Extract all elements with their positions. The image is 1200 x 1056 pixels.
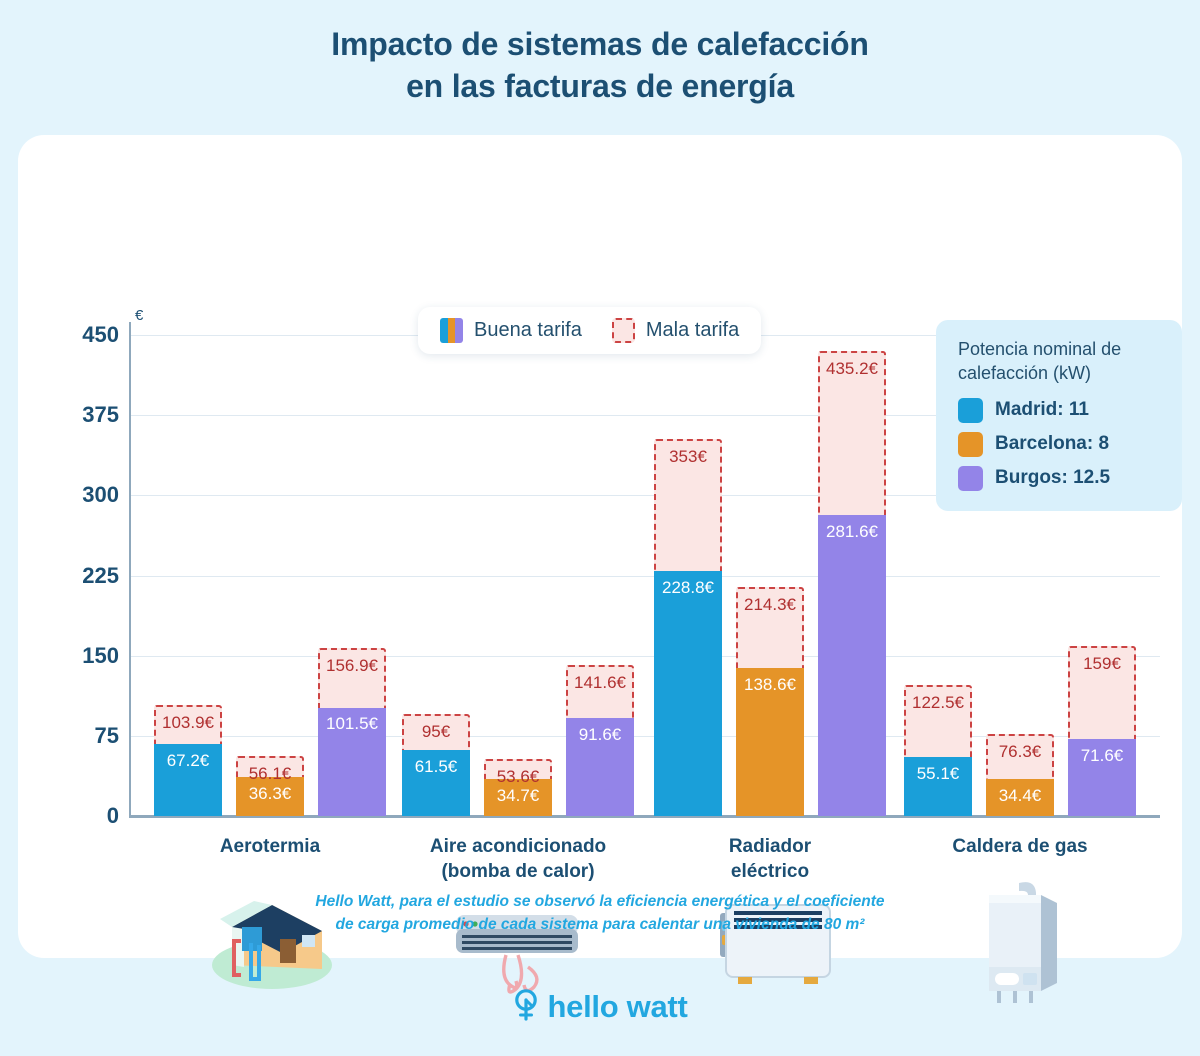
power-legend-item-burgos[interactable]: Burgos: 12.5 [958, 466, 1162, 491]
title-line-2: en las facturas de energía [0, 66, 1200, 108]
color-swatch-icon [958, 398, 983, 423]
y-axis-tick-label: 150 [59, 643, 119, 669]
power-legend-label: Barcelona: 8 [995, 433, 1109, 455]
bad-tariff-value-label: 76.3€ [986, 742, 1054, 762]
bad-tariff-value-label: 353€ [654, 447, 722, 467]
y-axis-line [129, 322, 131, 817]
y-axis-tick-label: 300 [59, 482, 119, 508]
legend-item-good-tariff[interactable]: Buena tarifa [440, 318, 582, 343]
power-legend-title: Potencia nominal de calefacción (kW) [958, 338, 1162, 386]
power-legend-label: Burgos: 12.5 [995, 467, 1110, 489]
bar-barcelona-3[interactable]: 76.3€34.4€ [986, 734, 1054, 816]
bad-tariff-value-label: 53.6€ [484, 767, 552, 787]
bad-tariff-value-label: 95€ [402, 722, 470, 742]
category-label-line: Aerotermia [140, 835, 400, 860]
bad-tariff-value-label: 141.6€ [566, 673, 634, 693]
gridline [131, 656, 1160, 657]
tariff-legend: Buena tarifa Mala tarifa [418, 307, 761, 354]
good-tariff-value-label: 34.4€ [986, 786, 1054, 806]
bar-madrid-0[interactable]: 103.9€67.2€ [154, 705, 222, 816]
bad-tariff-value-label: 214.3€ [736, 595, 804, 615]
category-label-line: Caldera de gas [890, 835, 1150, 860]
good-tariff-swatch-icon [440, 318, 463, 343]
power-legend-panel: Potencia nominal de calefacción (kW) Mad… [936, 320, 1182, 511]
gridline [131, 576, 1160, 577]
good-tariff-value-label: 34.7€ [484, 786, 552, 806]
y-axis-tick-label: 450 [59, 322, 119, 348]
category-label-3: Caldera de gas [890, 835, 1150, 860]
category-label-line: (bomba de calor) [388, 860, 648, 885]
footnote-line-2: de carga promedio de cada sistema para c… [18, 913, 1182, 936]
bad-tariff-value-label: 103.9€ [154, 713, 222, 733]
good-tariff-value-label: 138.6€ [736, 675, 804, 695]
category-label-2: Radiadoreléctrico [640, 835, 900, 884]
brand-footer: hello watt [0, 988, 1200, 1026]
category-label-0: Aerotermia [140, 835, 400, 860]
power-legend-items: Madrid: 11Barcelona: 8Burgos: 12.5 [958, 398, 1162, 491]
bad-tariff-value-label: 159€ [1068, 654, 1136, 674]
footnote-line-1: Hello Watt, para el estudio se observó l… [18, 890, 1182, 913]
bar-madrid-3[interactable]: 122.5€55.1€ [904, 685, 972, 816]
infographic-page: Impacto de sistemas de calefacción en la… [0, 0, 1200, 1056]
good-tariff-value-label: 91.6€ [566, 725, 634, 745]
y-axis-tick-label: 225 [59, 563, 119, 589]
brand-name: hello watt [548, 989, 688, 1025]
good-tariff-bar[interactable] [654, 571, 722, 816]
y-axis-tick-label: 375 [59, 402, 119, 428]
lightbulb-icon [513, 988, 539, 1026]
power-legend-item-barcelona[interactable]: Barcelona: 8 [958, 432, 1162, 457]
legend-label-good-tariff: Buena tarifa [474, 319, 582, 342]
bar-madrid-1[interactable]: 95€61.5€ [402, 714, 470, 816]
power-legend-item-madrid[interactable]: Madrid: 11 [958, 398, 1162, 423]
bar-barcelona-1[interactable]: 53.6€34.7€ [484, 759, 552, 816]
bad-tariff-value-label: 156.9€ [318, 656, 386, 676]
title-line-1: Impacto de sistemas de calefacción [0, 24, 1200, 66]
bar-burgos-1[interactable]: 141.6€91.6€ [566, 665, 634, 816]
good-tariff-value-label: 71.6€ [1068, 746, 1136, 766]
color-swatch-icon [958, 432, 983, 457]
legend-item-bad-tariff[interactable]: Mala tarifa [612, 318, 739, 343]
category-label-line: Radiador [640, 835, 900, 860]
good-tariff-value-label: 101.5€ [318, 714, 386, 734]
color-swatch-icon [958, 466, 983, 491]
bad-tariff-value-label: 122.5€ [904, 693, 972, 713]
good-tariff-value-label: 281.6€ [818, 522, 886, 542]
bar-madrid-2[interactable]: 353€228.8€ [654, 439, 722, 816]
bad-tariff-value-label: 435.2€ [818, 359, 886, 379]
power-legend-label: Madrid: 11 [995, 399, 1089, 421]
category-label-1: Aire acondicionado(bomba de calor) [388, 835, 648, 884]
good-tariff-value-label: 67.2€ [154, 751, 222, 771]
legend-label-bad-tariff: Mala tarifa [646, 319, 739, 342]
chart-card: € 450375300225150750 103.9€67.2€56.1€36.… [18, 135, 1182, 958]
bar-barcelona-0[interactable]: 56.1€36.3€ [236, 756, 304, 816]
bar-burgos-0[interactable]: 156.9€101.5€ [318, 648, 386, 816]
bad-tariff-swatch-icon [612, 318, 635, 343]
bar-burgos-3[interactable]: 159€71.6€ [1068, 646, 1136, 816]
y-axis-tick-label: 75 [59, 723, 119, 749]
page-title: Impacto de sistemas de calefacción en la… [0, 24, 1200, 107]
good-tariff-bar[interactable] [818, 515, 886, 816]
bar-barcelona-2[interactable]: 214.3€138.6€ [736, 587, 804, 816]
good-tariff-value-label: 36.3€ [236, 784, 304, 804]
bar-burgos-2[interactable]: 435.2€281.6€ [818, 351, 886, 816]
y-axis-tick-label: 0 [59, 803, 119, 829]
chart-footnote: Hello Watt, para el estudio se observó l… [18, 890, 1182, 937]
category-label-line: Aire acondicionado [388, 835, 648, 860]
bad-tariff-value-label: 56.1€ [236, 764, 304, 784]
good-tariff-value-label: 228.8€ [654, 578, 722, 598]
y-axis-unit: € [135, 307, 143, 324]
good-tariff-value-label: 61.5€ [402, 757, 470, 777]
category-label-line: eléctrico [640, 860, 900, 885]
good-tariff-value-label: 55.1€ [904, 764, 972, 784]
